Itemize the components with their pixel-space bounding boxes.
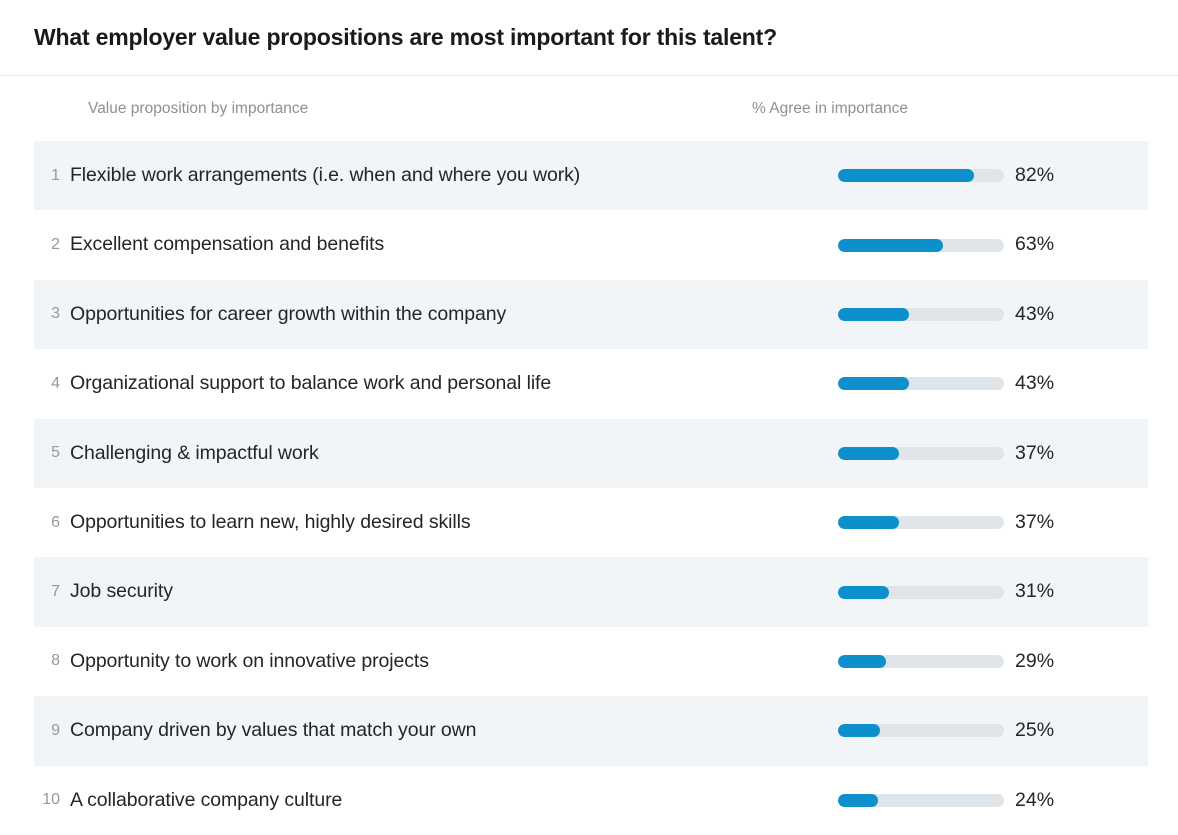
table-row[interactable]: 5Challenging & impactful work37% [34,419,1148,488]
row-rank: 10 [34,792,70,808]
row-percent-label: 63% [1015,233,1054,256]
progress-bar-track [838,377,1004,390]
row-label: Flexible work arrangements (i.e. when an… [70,164,838,187]
row-label: Opportunities to learn new, highly desir… [70,511,838,534]
progress-bar-fill [838,239,943,252]
table-row[interactable]: 4Organizational support to balance work … [34,349,1148,418]
row-percent-label: 25% [1015,719,1054,742]
table-row[interactable]: 10A collaborative company culture24% [34,766,1148,835]
progress-bar-fill [838,169,974,182]
row-label: Excellent compensation and benefits [70,233,838,256]
row-meter-cell: 37% [838,442,1148,465]
row-label: Company driven by values that match your… [70,719,838,742]
value-proposition-list: 1Flexible work arrangements (i.e. when a… [0,141,1178,835]
row-label: A collaborative company culture [70,789,838,812]
progress-bar-track [838,308,1004,321]
row-percent-label: 43% [1015,372,1054,395]
row-label: Opportunity to work on innovative projec… [70,650,838,673]
panel-header: What employer value propositions are mos… [0,0,1178,76]
table-row[interactable]: 3Opportunities for career growth within … [34,280,1148,349]
row-percent-label: 37% [1015,511,1054,534]
row-percent-label: 43% [1015,303,1054,326]
progress-bar-track [838,516,1004,529]
progress-bar-fill [838,794,878,807]
progress-bar-fill [838,516,899,529]
table-row[interactable]: 2Excellent compensation and benefits63% [34,210,1148,279]
row-percent-label: 24% [1015,789,1054,812]
row-label: Job security [70,580,838,603]
column-header-value: % Agree in importance [752,100,1148,118]
progress-bar-fill [838,308,909,321]
row-rank: 6 [34,515,70,531]
progress-bar-fill [838,586,889,599]
table-column-headers: Value proposition by importance % Agree … [0,76,1178,141]
progress-bar-fill [838,655,886,668]
row-meter-cell: 37% [838,511,1148,534]
row-meter-cell: 43% [838,303,1148,326]
progress-bar-fill [838,377,909,390]
table-row[interactable]: 7Job security31% [34,557,1148,626]
row-meter-cell: 25% [838,719,1148,742]
progress-bar-track [838,169,1004,182]
table-row[interactable]: 8Opportunity to work on innovative proje… [34,627,1148,696]
row-rank: 4 [34,376,70,392]
row-meter-cell: 24% [838,789,1148,812]
row-rank: 5 [34,445,70,461]
progress-bar-track [838,724,1004,737]
row-meter-cell: 63% [838,233,1148,256]
row-percent-label: 82% [1015,164,1054,187]
row-meter-cell: 82% [838,164,1148,187]
progress-bar-fill [838,724,880,737]
progress-bar-track [838,447,1004,460]
row-rank: 2 [34,237,70,253]
row-rank: 1 [34,168,70,184]
progress-bar-fill [838,447,899,460]
row-percent-label: 31% [1015,580,1054,603]
progress-bar-track [838,794,1004,807]
progress-bar-track [838,655,1004,668]
progress-bar-track [838,586,1004,599]
row-rank: 7 [34,584,70,600]
progress-bar-track [838,239,1004,252]
row-rank: 3 [34,306,70,322]
value-proposition-panel: What employer value propositions are mos… [0,0,1178,826]
row-meter-cell: 29% [838,650,1148,673]
row-rank: 8 [34,653,70,669]
row-label: Organizational support to balance work a… [70,372,838,395]
row-percent-label: 37% [1015,442,1054,465]
table-row[interactable]: 6Opportunities to learn new, highly desi… [34,488,1148,557]
page-title: What employer value propositions are mos… [34,25,777,50]
row-rank: 9 [34,723,70,739]
row-percent-label: 29% [1015,650,1054,673]
row-label: Opportunities for career growth within t… [70,303,838,326]
row-meter-cell: 43% [838,372,1148,395]
table-row[interactable]: 1Flexible work arrangements (i.e. when a… [34,141,1148,210]
column-header-label: Value proposition by importance [34,100,752,118]
row-label: Challenging & impactful work [70,442,838,465]
row-meter-cell: 31% [838,580,1148,603]
table-row[interactable]: 9Company driven by values that match you… [34,696,1148,765]
